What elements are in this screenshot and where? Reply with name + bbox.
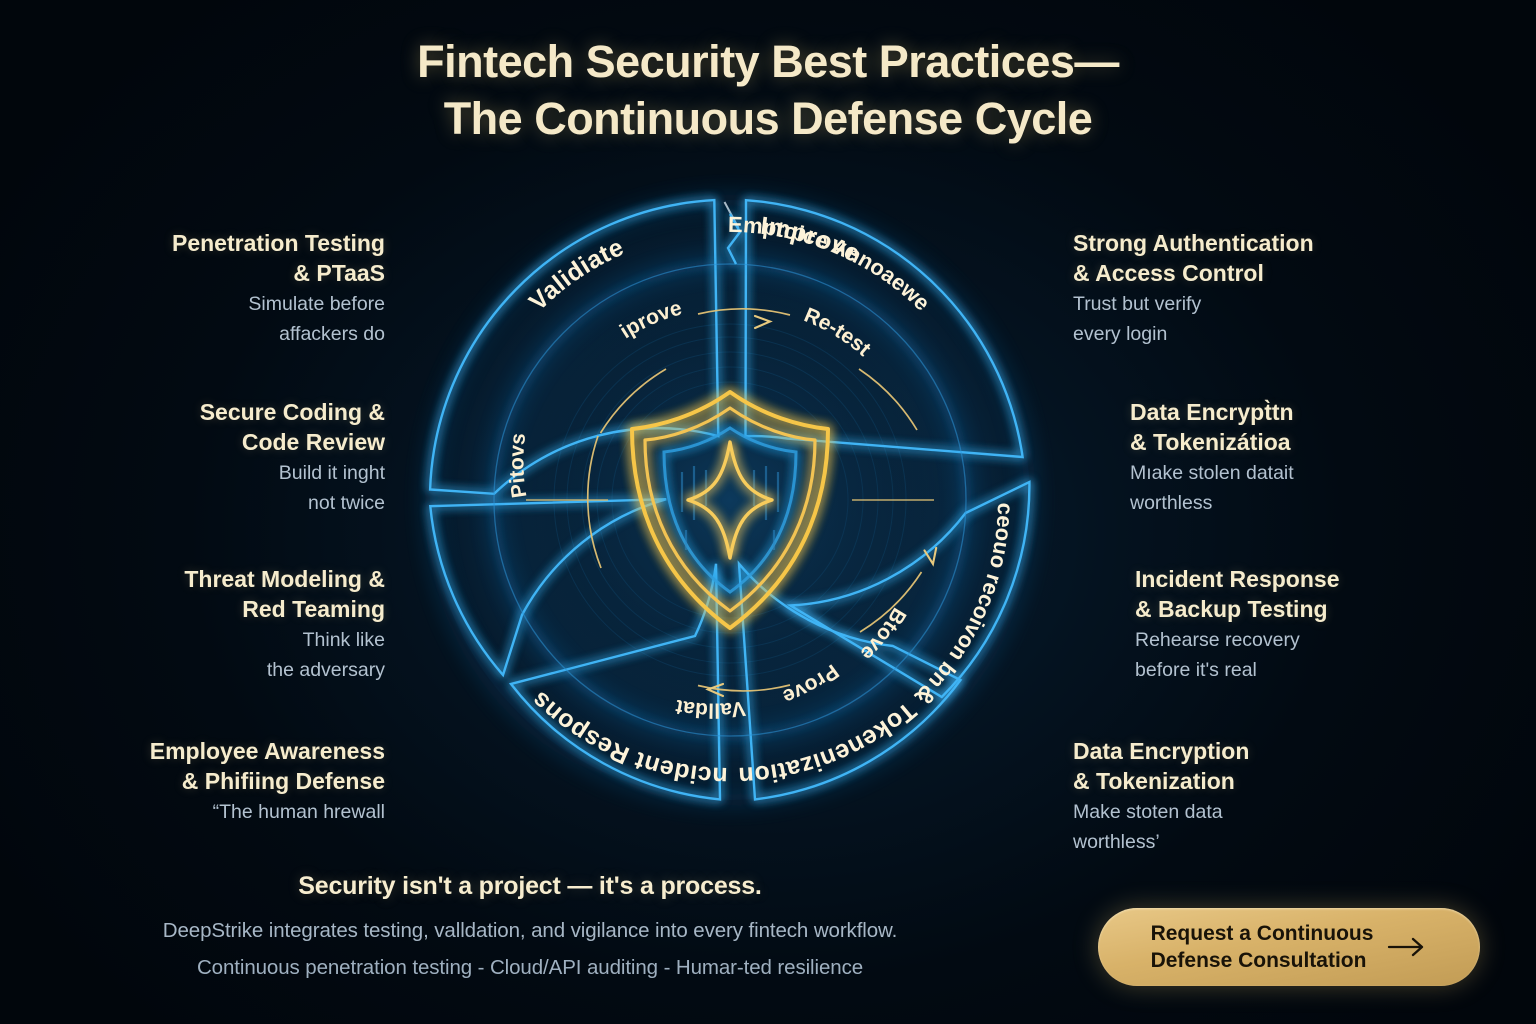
- callout-title-line-2: & Access Control: [1073, 258, 1314, 288]
- callout-title-line-2: & Tokenization: [1073, 766, 1249, 796]
- callout-sub-line-1: Think like: [184, 627, 385, 654]
- callout-title-line-1: Data Encrypt̀tn: [1130, 397, 1294, 427]
- callout-threat-modeling: Threat Modeling & Red Teaming Think like…: [184, 564, 385, 684]
- callout-title-line-2: Code Review: [200, 427, 385, 457]
- callout-employee-awareness: Employee Awareness & Phifiing Defense “T…: [150, 736, 385, 826]
- callout-sub-line-1: Trust but verify: [1073, 291, 1314, 318]
- callout-sub-line-2: worthless’: [1073, 829, 1249, 856]
- title-line-2: The Continuous Defense Cycle: [0, 90, 1536, 148]
- callout-title-line-1: Employee Awareness: [150, 736, 385, 766]
- callout-data-encryption-lower: Data Encryption & Tokenization Make stot…: [1073, 736, 1249, 856]
- callout-title-line-1: Incident Response: [1135, 564, 1339, 594]
- callout-penetration-testing: Penetration Testing & PTaaS Simulate bef…: [172, 228, 385, 348]
- callout-title-line-2: & Tokenizátioa: [1130, 427, 1294, 457]
- callout-title-line-2: & Phifiing Defense: [150, 766, 385, 796]
- request-consultation-button[interactable]: Request a Continuous Defense Consultatio…: [1098, 908, 1480, 986]
- callout-sub-line-2: every login: [1073, 321, 1314, 348]
- callout-sub-line-1: Mıake stolen datait: [1130, 460, 1294, 487]
- callout-title-line-1: Strong Authentication: [1073, 228, 1314, 258]
- callout-data-encryption-upper: Data Encrypt̀tn & Tokenizátioa Mıake sto…: [1130, 397, 1294, 517]
- callout-title-line-2: Red Teaming: [184, 594, 385, 624]
- callout-title-line-1: Penetration Testing: [172, 228, 385, 258]
- footer-headline: Security isn't a project — it's a proces…: [0, 872, 1060, 901]
- callout-sub-line-1: Simulate before: [172, 291, 385, 318]
- callout-sub-line-1: “The human hrewall: [150, 799, 385, 826]
- footer-line-2: Continuous penetration testing - Cloud/A…: [0, 956, 1060, 980]
- footer: Security isn't a project — it's a proces…: [0, 872, 1060, 980]
- callout-sub-line-1: Make stoten data: [1073, 799, 1249, 826]
- callout-sub-line-1: Build it inght: [200, 460, 385, 487]
- cta-label-line-2: Defense Consultation: [1151, 947, 1374, 974]
- callout-sub-line-2: the adversary: [184, 657, 385, 684]
- cta-label: Request a Continuous Defense Consultatio…: [1151, 920, 1374, 974]
- title-line-1: Fintech Security Best Practices—: [0, 34, 1536, 90]
- callout-sub-line-1: Rehearse recovery: [1135, 627, 1339, 654]
- callout-sub-line-2: worthless: [1130, 490, 1294, 517]
- footer-line-1: DeepStrike integrates testing, valldatio…: [0, 919, 1060, 943]
- callout-title-line-1: Secure Coding &: [200, 397, 385, 427]
- callout-title-line-1: Threat Modeling &: [184, 564, 385, 594]
- callout-title-line-2: & PTaaS: [172, 258, 385, 288]
- cta-label-line-1: Request a Continuous: [1151, 920, 1374, 947]
- callout-incident-response: Incident Response & Backup Testing Rehea…: [1135, 564, 1339, 684]
- callout-strong-authentication: Strong Authentication & Access Control T…: [1073, 228, 1314, 348]
- callout-sub-line-2: affackers do: [172, 321, 385, 348]
- callout-title-line-2: & Backup Testing: [1135, 594, 1339, 624]
- inner-label-pitovs: Pitovs: [505, 432, 531, 500]
- callout-sub-line-2: not twice: [200, 490, 385, 517]
- arrow-right-icon: [1387, 936, 1427, 958]
- callout-title-line-1: Data Encryption: [1073, 736, 1249, 766]
- page-title: Fintech Security Best Practices— The Con…: [0, 34, 1536, 148]
- continuous-defense-cycle-diagram: Validiate Improve Rceouo recoivon bn & T…: [398, 168, 1062, 832]
- callout-secure-coding: Secure Coding & Code Review Build it ing…: [200, 397, 385, 517]
- callout-sub-line-2: before it's real: [1135, 657, 1339, 684]
